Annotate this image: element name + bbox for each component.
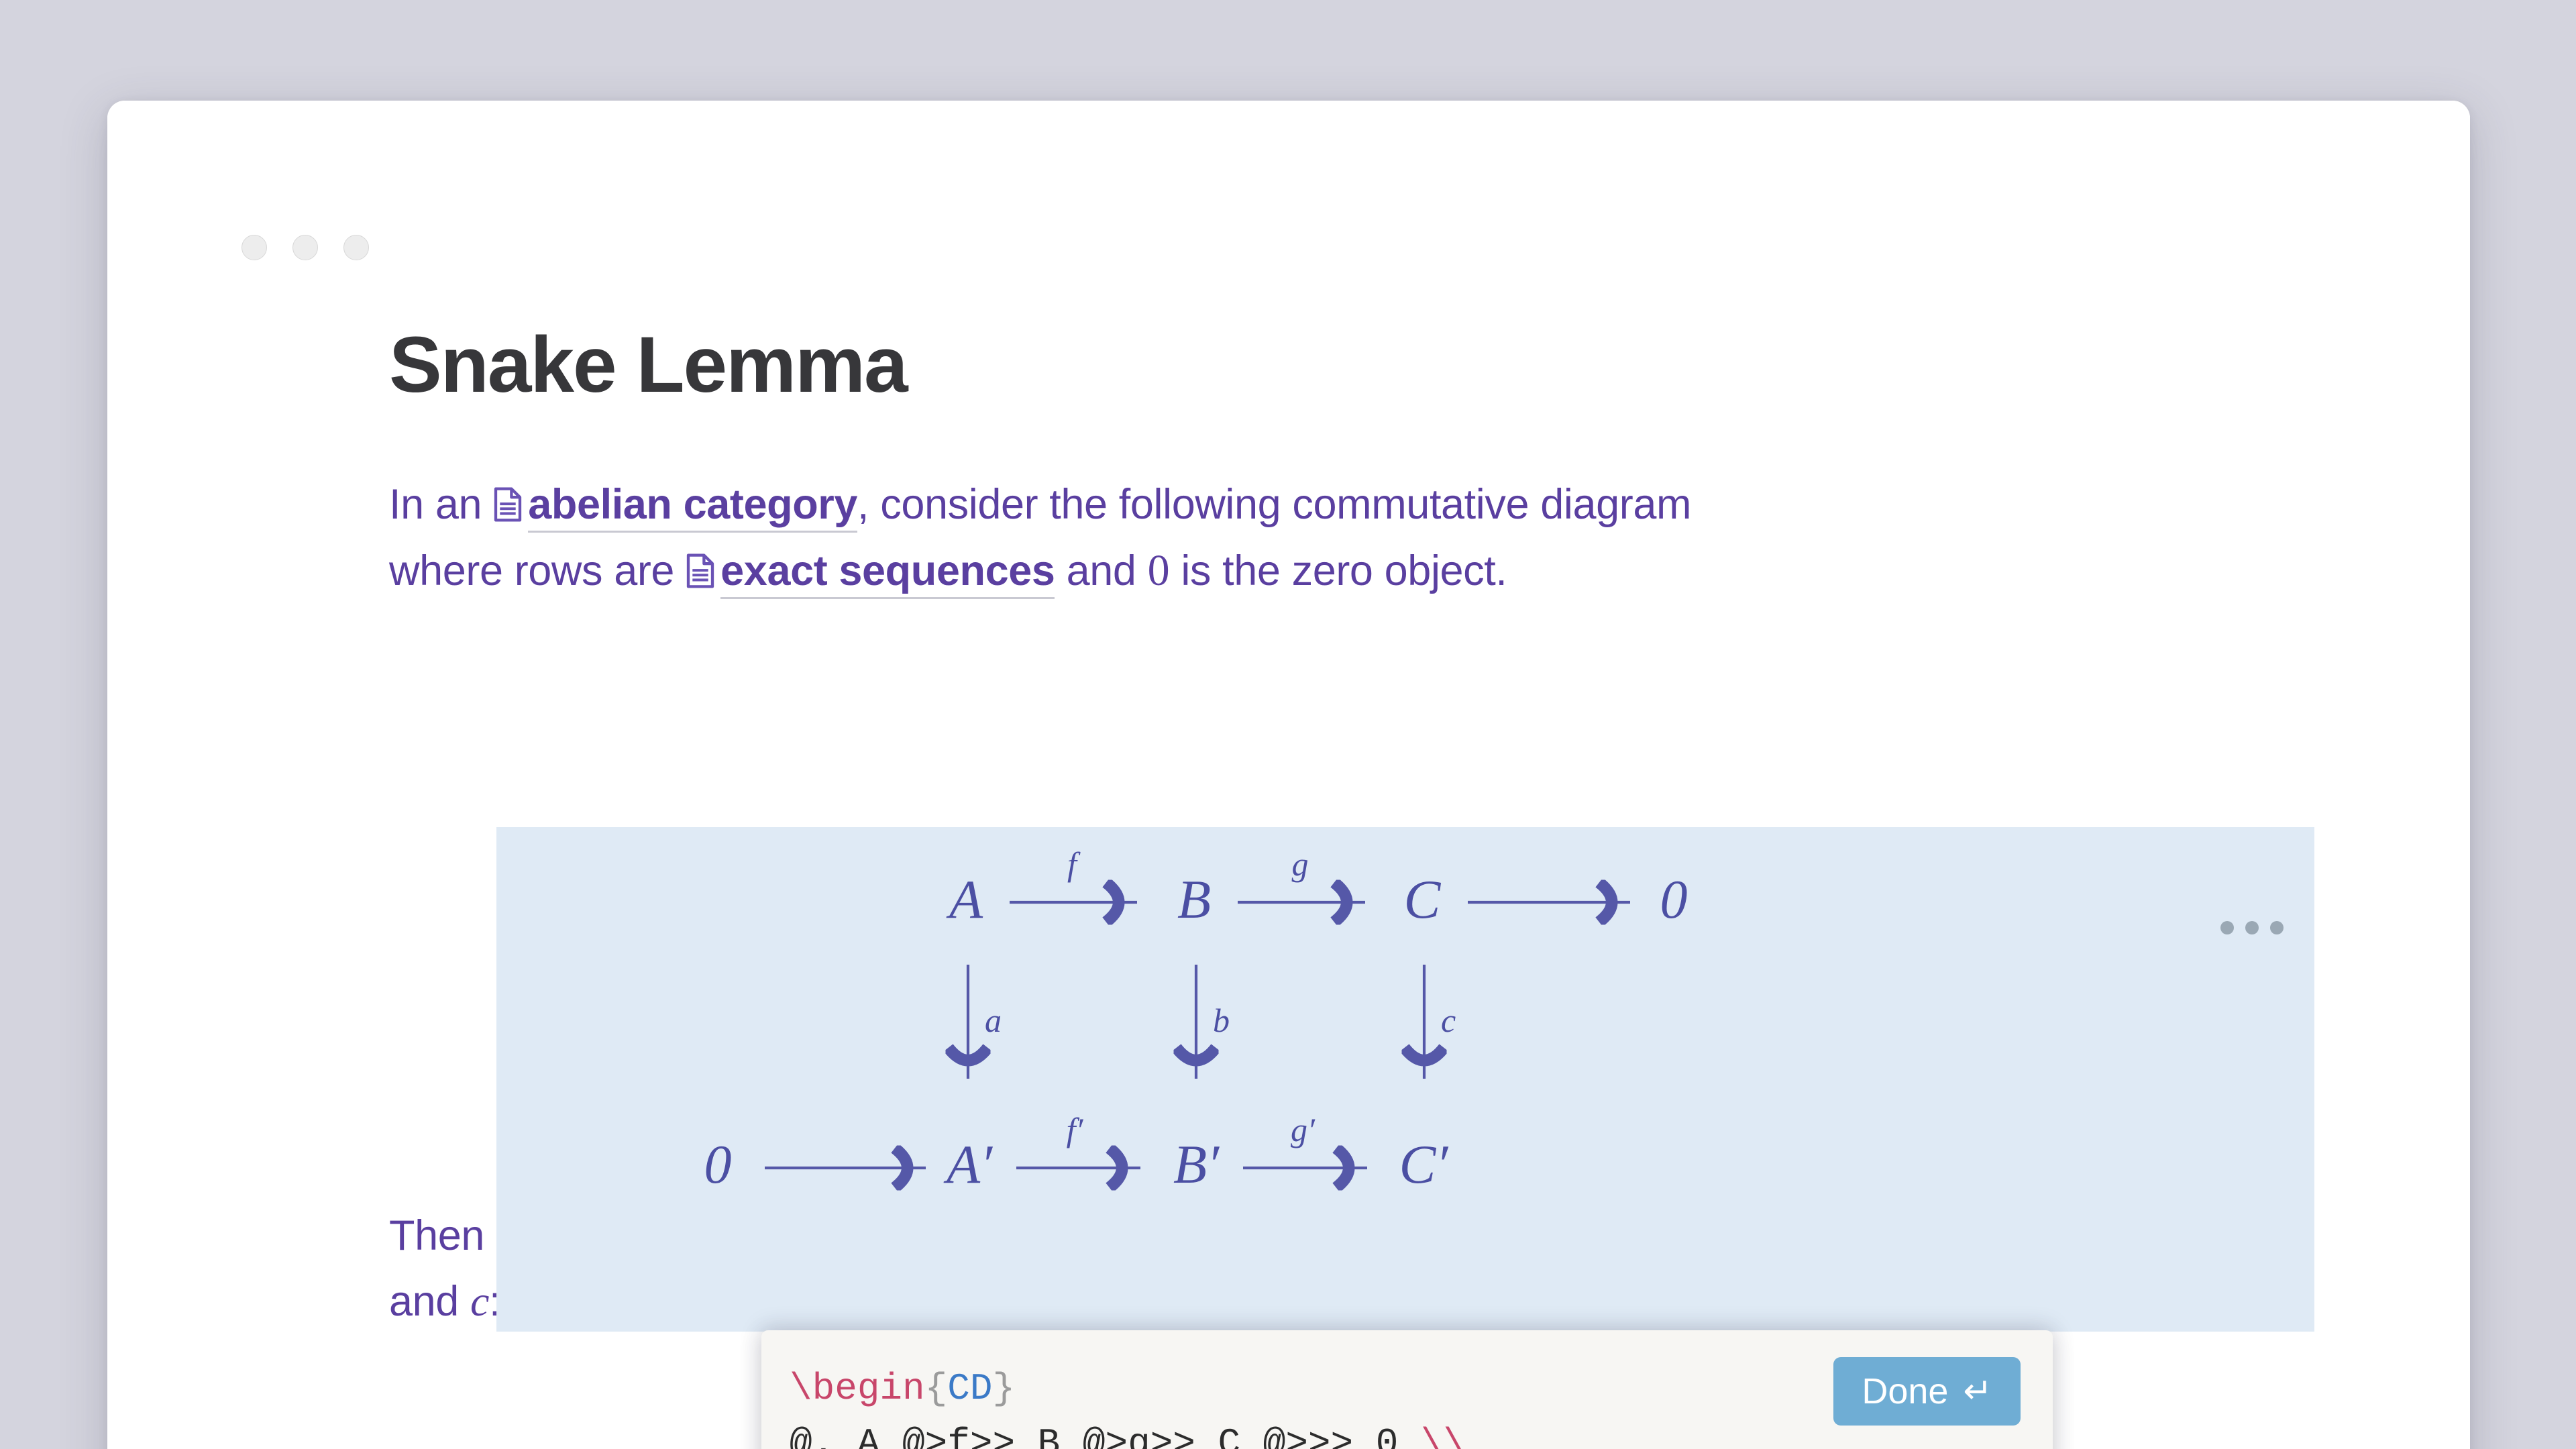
minimize-button[interactable] bbox=[292, 235, 318, 260]
diagram-arrow-label-f-prime: f′ bbox=[1067, 1111, 1084, 1148]
latex-code-editor[interactable]: \begin{CD} @. A @>f>> B @>g>> C @>>> 0 \… bbox=[761, 1330, 2053, 1449]
diagram-arrow-label-g: g bbox=[1292, 845, 1309, 883]
symbol-c: c bbox=[470, 1277, 489, 1325]
document-icon bbox=[686, 543, 715, 580]
diagram-object-zero-bottom: 0 bbox=[704, 1134, 732, 1195]
diagram-arrow-label-c: c bbox=[1441, 1002, 1456, 1039]
document-icon bbox=[493, 477, 523, 513]
diagram-arrow-label-a: a bbox=[985, 1002, 1002, 1039]
page-title: Snake Lemma bbox=[389, 322, 2348, 409]
enter-key-icon: ↵ bbox=[1963, 1374, 1992, 1409]
window-titlebar bbox=[107, 101, 2470, 181]
intro-text-end: is the zero object. bbox=[1169, 547, 1507, 594]
intro-text-pre: In an bbox=[389, 481, 493, 528]
zero-object-symbol: 0 bbox=[1148, 546, 1170, 595]
code-line-2-break: \\ bbox=[1421, 1422, 1466, 1449]
diagram-object-A: A bbox=[946, 869, 983, 930]
close-button[interactable] bbox=[241, 235, 267, 260]
app-window: Snake Lemma In an abelian category, cons… bbox=[107, 101, 2470, 1449]
commutative-diagram-block[interactable]: A f B g C 0 a b c 0 A′ f′ B′ bbox=[496, 827, 2314, 1332]
intro-paragraph: In an abelian category, consider the fol… bbox=[389, 473, 2348, 604]
intro-text-and: and bbox=[1055, 547, 1147, 594]
diagram-arrow-label-b: b bbox=[1213, 1002, 1230, 1039]
link-abelian-category[interactable]: abelian category bbox=[528, 481, 857, 533]
code-environment-name: CD bbox=[947, 1367, 992, 1410]
intro-text-line2-pre: where rows are bbox=[389, 547, 686, 594]
window-controls bbox=[241, 235, 369, 260]
code-line-2-text: @. A @>f>> B @>g>> C @>>> 0 bbox=[790, 1422, 1421, 1449]
link-exact-sequences[interactable]: exact sequences bbox=[720, 547, 1055, 599]
code-command-begin: \begin bbox=[790, 1367, 925, 1410]
done-button[interactable]: Done ↵ bbox=[1833, 1357, 2021, 1426]
diagram-object-B-prime: B′ bbox=[1173, 1134, 1220, 1195]
diagram-object-C: C bbox=[1404, 869, 1442, 930]
code-content[interactable]: \begin{CD} @. A @>f>> B @>g>> C @>>> 0 \… bbox=[790, 1361, 1466, 1449]
diagram-object-B: B bbox=[1177, 869, 1211, 930]
done-button-label: Done bbox=[1862, 1371, 1948, 1412]
code-open-brace: { bbox=[925, 1367, 948, 1410]
intro-text-mid: , consider the following commutative dia… bbox=[857, 481, 1691, 528]
maximize-button[interactable] bbox=[343, 235, 369, 260]
code-close-brace: } bbox=[992, 1367, 1015, 1410]
diagram-object-C-prime: C′ bbox=[1399, 1134, 1449, 1195]
commutative-diagram: A f B g C 0 a b c 0 A′ f′ B′ bbox=[496, 827, 2314, 1332]
diagram-arrow-label-f: f bbox=[1067, 845, 1081, 883]
diagram-arrow-label-g-prime: g′ bbox=[1291, 1111, 1316, 1148]
conclusion-line2-pre: and bbox=[389, 1278, 470, 1325]
diagram-object-A-prime: A′ bbox=[943, 1134, 993, 1195]
diagram-object-zero-top: 0 bbox=[1660, 869, 1688, 930]
